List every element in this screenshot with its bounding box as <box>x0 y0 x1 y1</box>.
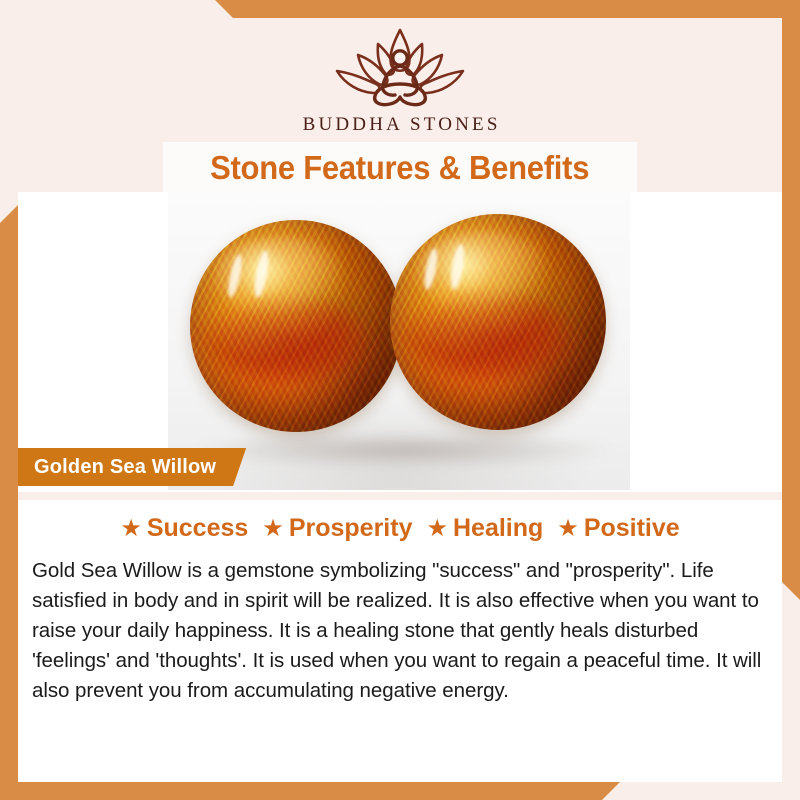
photo-shadow <box>194 432 614 468</box>
benefit-label: Success <box>147 514 248 543</box>
benefits-row: ★ Success ★ Prosperity ★ Healing ★ Posit… <box>18 514 782 543</box>
benefit-label: Healing <box>453 514 543 543</box>
description-panel: ★ Success ★ Prosperity ★ Healing ★ Posit… <box>18 500 782 782</box>
product-photo <box>168 192 630 490</box>
star-icon: ★ <box>262 517 284 541</box>
product-image-panel <box>18 192 782 492</box>
benefit-item-healing: ★ Healing <box>426 514 543 543</box>
brand-wordmark: BUDDHA STONES <box>0 114 800 136</box>
benefit-label: Positive <box>584 514 680 543</box>
benefit-item-success: ★ Success <box>120 514 248 543</box>
infographic-page: BUDDHA STONES Stone Features & Benefits <box>0 0 800 800</box>
frame-band-bottom <box>0 782 620 800</box>
description-text: Gold Sea Willow is a gemstone symbolizin… <box>32 556 772 706</box>
title-banner: Stone Features & Benefits <box>163 142 637 194</box>
stone-sheen <box>416 231 550 313</box>
star-icon: ★ <box>426 517 448 541</box>
product-name-badge: Golden Sea Willow <box>18 448 246 486</box>
frame-band-top <box>215 0 800 18</box>
stone-sphere-left <box>190 220 402 432</box>
star-icon: ★ <box>557 517 579 541</box>
lotus-meditation-icon <box>315 24 485 110</box>
benefit-label: Prosperity <box>289 514 413 543</box>
star-icon: ★ <box>120 517 142 541</box>
product-name-label: Golden Sea Willow <box>34 456 216 479</box>
benefit-item-positive: ★ Positive <box>557 514 679 543</box>
page-title: Stone Features & Benefits <box>210 149 589 187</box>
stone-sphere-right <box>390 214 606 430</box>
frame-band-left <box>0 205 18 800</box>
benefit-item-prosperity: ★ Prosperity <box>262 514 412 543</box>
brand-logo: BUDDHA STONES <box>0 24 800 136</box>
